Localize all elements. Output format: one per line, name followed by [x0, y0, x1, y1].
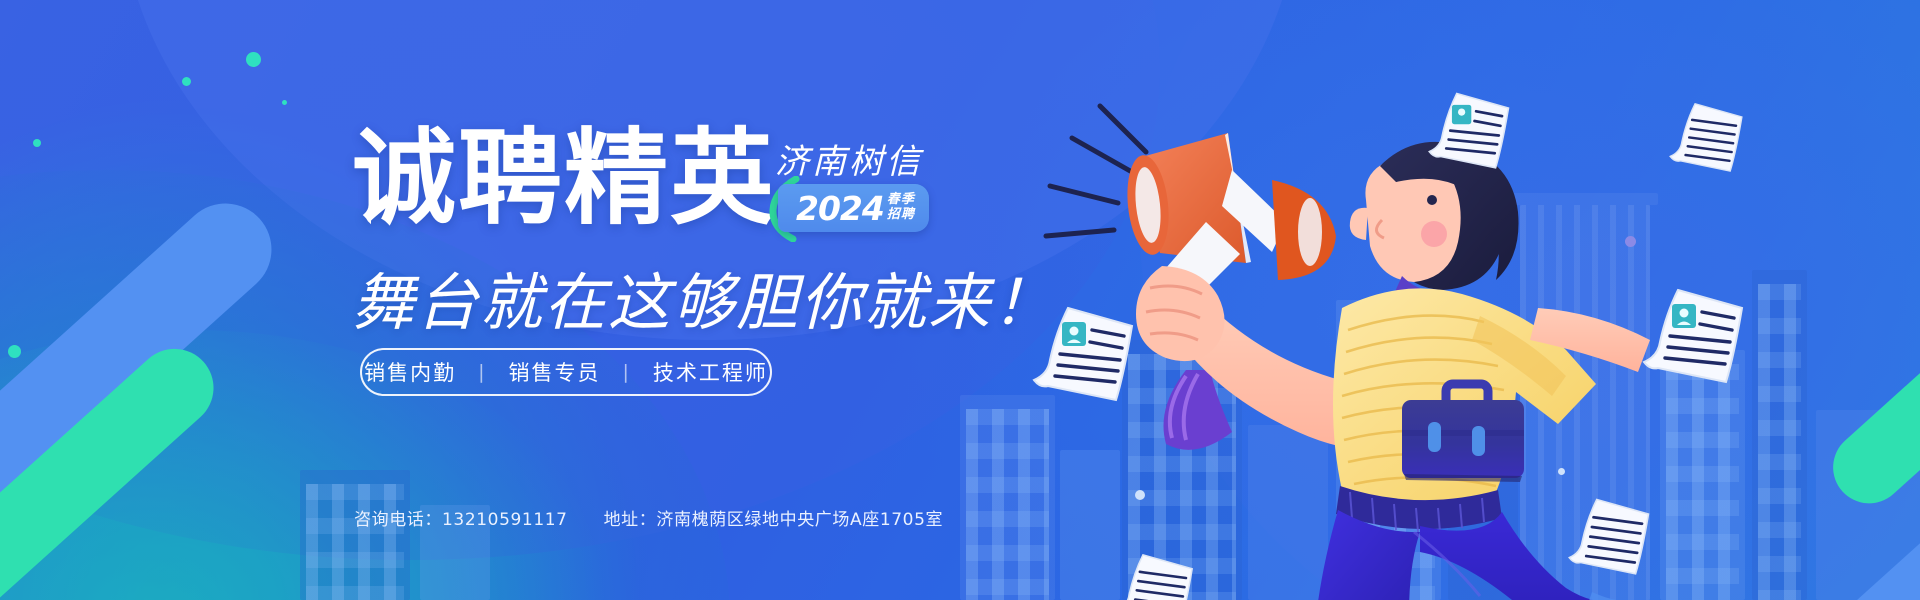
season-badge: 2024 春季 招聘 [778, 184, 929, 232]
address-value: 济南槐荫区绿地中央广场A座1705室 [656, 510, 943, 530]
banner-copy: 诚聘精英 济南树信 2024 春季 招聘 舞台就在这够胆你就来！ 销售内勤 | … [0, 0, 1920, 600]
role-separator: | [478, 361, 486, 383]
badge-sub-line1: 春季 [887, 193, 915, 208]
job-positions-pill: 销售内勤 | 销售专员 | 技术工程师 [360, 348, 772, 396]
phone-label: 咨询电话： [354, 510, 442, 530]
badge-year: 2024 [796, 189, 884, 228]
contact-info: 咨询电话：13210591117 地址：济南槐荫区绿地中央广场A座1705室 [354, 505, 943, 530]
address-label: 地址： [604, 510, 657, 530]
role-item-0[interactable]: 销售内勤 [364, 357, 456, 387]
badge-subtitle: 春季 招聘 [887, 193, 915, 222]
company-name: 济南树信 [775, 134, 923, 183]
recruitment-banner: 诚聘精英 济南树信 2024 春季 招聘 舞台就在这够胆你就来！ 销售内勤 | … [0, 0, 1920, 600]
role-separator: | [623, 361, 631, 383]
headline: 诚聘精英 [352, 126, 776, 230]
subheadline: 舞台就在这够胆你就来！ [352, 252, 1056, 342]
role-item-1[interactable]: 销售专员 [509, 357, 601, 387]
address-block: 地址：济南槐荫区绿地中央广场A座1705室 [604, 505, 944, 530]
badge-sub-line2: 招聘 [887, 208, 915, 223]
phone-block: 咨询电话：13210591117 [354, 505, 568, 530]
phone-value: 13210591117 [442, 510, 568, 530]
role-item-2[interactable]: 技术工程师 [653, 357, 768, 387]
